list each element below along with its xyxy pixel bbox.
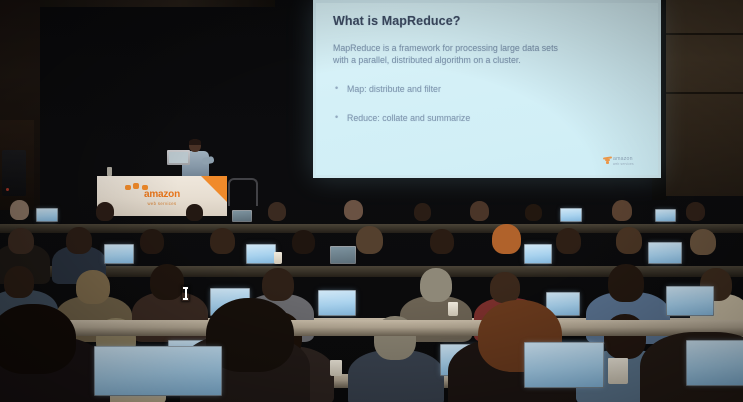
presentation-slide: What is MapReduce? MapReduce is a framew… (316, 3, 658, 175)
audience-head (525, 204, 542, 221)
audience-head (492, 224, 521, 254)
podium-laptop (167, 150, 190, 165)
audience-head (612, 200, 632, 221)
audience-laptop (655, 209, 676, 222)
audience-head (686, 202, 705, 221)
presenter-hair (189, 139, 201, 145)
slide-title: What is MapReduce? (333, 14, 644, 28)
audience-head (616, 227, 642, 254)
coffee-cup (608, 358, 628, 384)
mouse-cursor-ibeam (182, 286, 189, 301)
slide-bullet-list: Map: distribute and filter Reduce: colla… (333, 84, 644, 123)
coffee-cup (274, 252, 282, 264)
audience-laptop (232, 210, 252, 222)
audience-laptop (36, 208, 58, 222)
audience-head (186, 204, 203, 221)
audience-head (4, 266, 34, 298)
slide-bullet-map: Map: distribute and filter (333, 84, 644, 94)
audience-head (10, 200, 29, 220)
conference-photo: What is MapReduce? MapReduce is a framew… (0, 0, 743, 402)
audience-head (262, 268, 294, 301)
audience-head (344, 200, 363, 220)
audience-head (0, 304, 76, 374)
led-indicator-icon (6, 188, 9, 191)
audience-laptop (524, 244, 552, 264)
audience-laptop-foreground (94, 346, 222, 396)
audience-area (0, 196, 743, 402)
slide-bullet-reduce: Reduce: collate and summarize (333, 113, 644, 123)
stage-monitor-speaker (2, 150, 26, 196)
aws-logo: amazon web services (602, 154, 648, 169)
audience-head (556, 228, 581, 254)
audience-head (490, 272, 520, 303)
coffee-cup (330, 360, 342, 376)
audience-laptop (560, 208, 582, 222)
audience-head (96, 202, 114, 221)
audience-head (76, 270, 110, 304)
audience-head (210, 228, 235, 254)
slide-body-text: MapReduce is a framework for processing … (333, 42, 573, 67)
right-wall-panel (666, 0, 743, 196)
audience-laptop (666, 286, 714, 316)
audience-laptop-foreground (686, 340, 743, 386)
audience-head (292, 230, 315, 254)
audience-laptop (104, 244, 134, 264)
audience-head (470, 201, 489, 221)
coffee-cup (448, 302, 458, 316)
aws-swoosh-icon (602, 156, 613, 165)
audience-laptop (330, 246, 356, 264)
audience-head (690, 229, 716, 255)
audience-head (420, 268, 452, 302)
audience-laptop (648, 242, 682, 264)
wall-seam (666, 92, 743, 94)
audience-laptop (318, 290, 356, 316)
audience-laptop (246, 244, 276, 264)
audience-head (8, 228, 34, 254)
audience-head (66, 227, 92, 254)
audience-laptop-foreground (524, 342, 604, 388)
desk-surface (0, 320, 743, 336)
audience-head (414, 203, 431, 221)
audience-head (356, 226, 383, 254)
wall-seam (666, 33, 743, 35)
audience-head (268, 202, 286, 221)
audience-head (430, 229, 454, 254)
audience-head (140, 229, 164, 254)
podium-laptop-screen (169, 152, 188, 163)
audience-head (608, 264, 644, 302)
audience-head (150, 264, 184, 300)
ceiling-band (40, 0, 275, 7)
projection-screen: What is MapReduce? MapReduce is a framew… (313, 0, 661, 178)
water-glass (107, 167, 112, 176)
